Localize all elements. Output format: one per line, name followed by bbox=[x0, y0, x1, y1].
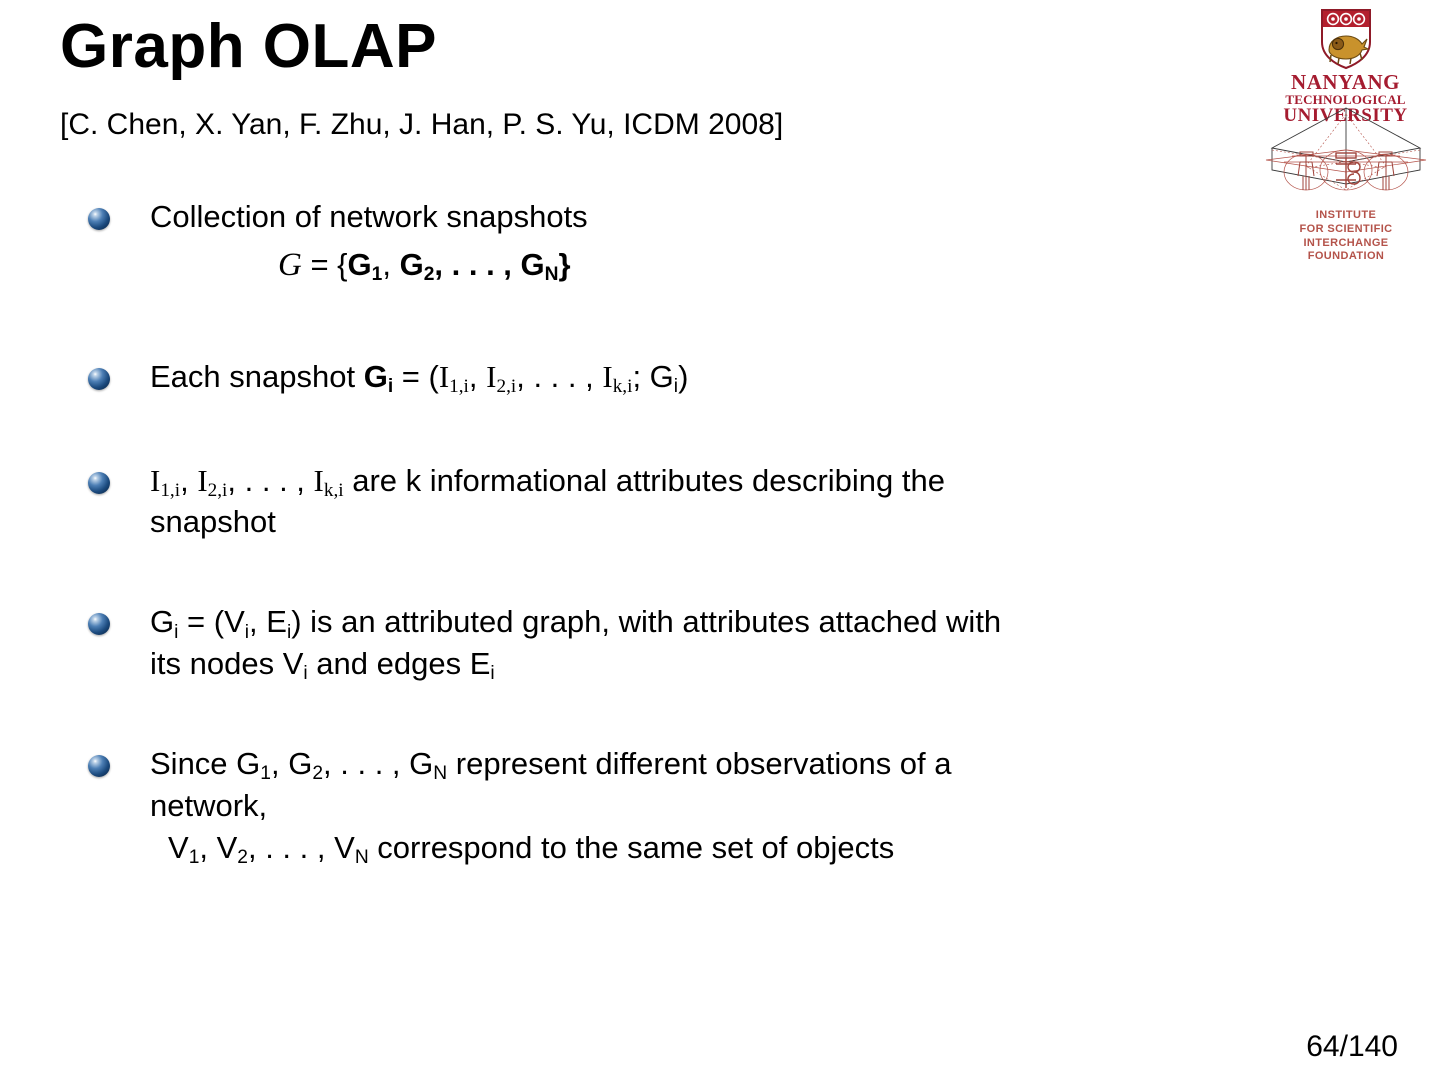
b2-semi: ; bbox=[632, 359, 649, 394]
b4-l2a: its nodes bbox=[150, 646, 283, 681]
list-item: I1,i, I2,i, . . . , Ik,i are k informati… bbox=[86, 460, 1266, 544]
isi-line-2: FOR SCIENTIFIC INTERCHANGE bbox=[1256, 223, 1436, 251]
b4-l2-e: E bbox=[470, 646, 491, 681]
b4-l2-e-sub: i bbox=[490, 663, 494, 684]
formula-close: } bbox=[559, 247, 571, 282]
list-item: Since G1, G2, . . . , GN represent diffe… bbox=[86, 743, 1266, 869]
b2-ik-sub: k,i bbox=[613, 376, 633, 397]
b5-g1-sub: 1 bbox=[260, 763, 271, 784]
b5-l3-sep1: , bbox=[199, 830, 216, 865]
list-item: Collection of network snapshots G = {G1,… bbox=[86, 196, 1266, 290]
b4-e-sub: i bbox=[287, 622, 291, 643]
b4-l2-v: V bbox=[283, 646, 304, 681]
b5-l3-vn: V bbox=[334, 830, 355, 865]
bullet-sphere-icon bbox=[88, 208, 110, 230]
b3-dots: , . . . , bbox=[227, 463, 313, 498]
b2-gi: G bbox=[650, 359, 674, 394]
b4-l2b: and edges bbox=[308, 646, 470, 681]
b3-sep1: , bbox=[180, 463, 197, 498]
bullet-5-text: Since G1, G2, . . . , GN represent diffe… bbox=[150, 746, 952, 781]
b3-i1-sub: 1,i bbox=[160, 480, 180, 501]
page-number: 64/140 bbox=[1306, 1030, 1398, 1064]
bullet-5-line3: V1, V2, . . . , VN correspond to the sam… bbox=[150, 827, 1266, 869]
spacer bbox=[86, 290, 1266, 356]
b5-dots: , . . . , bbox=[323, 746, 409, 781]
ntu-line-1: NANYANG bbox=[1258, 72, 1433, 93]
b5-gn-sub: N bbox=[433, 763, 447, 784]
b4-e: E bbox=[266, 604, 287, 639]
bullet-sphere-icon bbox=[88, 472, 110, 494]
formula-sep1: , bbox=[382, 247, 399, 282]
formula-g1-sub: 1 bbox=[372, 264, 383, 285]
b5-l3-v2-sub: 2 bbox=[237, 847, 248, 868]
b2-i1: I bbox=[439, 359, 449, 394]
b2-g: G bbox=[364, 359, 388, 394]
formula-gn-sub: N bbox=[545, 264, 559, 285]
citation-line: [C. Chen, X. Yan, F. Zhu, J. Han, P. S. … bbox=[60, 108, 783, 141]
b3-i1: I bbox=[150, 463, 160, 498]
b5-tail: represent different observations of a bbox=[447, 746, 951, 781]
bullet-2-text: Each snapshot Gi = (I1,i, I2,i, . . . , … bbox=[150, 359, 688, 394]
formula-g2: G bbox=[400, 247, 424, 282]
isi-line-3: FOUNDATION bbox=[1256, 250, 1436, 264]
isi-perspective-diagram-icon bbox=[1262, 104, 1430, 208]
b2-gi-sub: i bbox=[674, 376, 678, 397]
b5-l3-v2: V bbox=[217, 830, 238, 865]
b2-i2: I bbox=[486, 359, 496, 394]
b3-ik: I bbox=[314, 463, 324, 498]
b3-i2: I bbox=[197, 463, 207, 498]
formula-lhs: G bbox=[278, 247, 302, 283]
b5-l3-tail: correspond to the same set of objects bbox=[369, 830, 895, 865]
b3-tail: are k informational attributes describin… bbox=[344, 463, 945, 498]
b4-tail: ) is an attributed graph, with attribute… bbox=[291, 604, 1001, 639]
page-title: Graph OLAP bbox=[60, 14, 437, 79]
b2-mid: = ( bbox=[393, 359, 439, 394]
b2-g-sub: i bbox=[388, 376, 393, 397]
b5-l3-v1: V bbox=[168, 830, 189, 865]
b4-v-sub: i bbox=[245, 622, 249, 643]
bullet-1-text: Collection of network snapshots bbox=[150, 199, 588, 234]
b5-l3-dots: , . . . , bbox=[248, 830, 334, 865]
b3-ik-sub: k,i bbox=[324, 480, 344, 501]
formula-gn: G bbox=[521, 247, 545, 282]
bullet-sphere-icon bbox=[88, 613, 110, 635]
isi-line-1: INSTITUTE bbox=[1256, 209, 1436, 223]
b3-i2-sub: 2,i bbox=[208, 480, 228, 501]
formula-dots: , . . . , bbox=[434, 247, 520, 282]
formula-g2-sub: 2 bbox=[424, 264, 435, 285]
b2-i2-sub: 2,i bbox=[496, 376, 516, 397]
b4-v: V bbox=[224, 604, 245, 639]
bullet-sphere-icon bbox=[88, 755, 110, 777]
b5-gn: G bbox=[409, 746, 433, 781]
b5-l3-vn-sub: N bbox=[355, 847, 369, 868]
b5-g2: G bbox=[288, 746, 312, 781]
b5-g1: G bbox=[236, 746, 260, 781]
isi-wordmark: INSTITUTE FOR SCIENTIFIC INTERCHANGE FOU… bbox=[1256, 209, 1436, 264]
spacer bbox=[86, 543, 1266, 601]
bullet-sphere-icon bbox=[88, 368, 110, 390]
spacer bbox=[86, 398, 1266, 460]
bullet-list: Collection of network snapshots G = {G1,… bbox=[86, 196, 1266, 868]
b2-i1-sub: 1,i bbox=[449, 376, 469, 397]
b4-l2-v-sub: i bbox=[303, 663, 307, 684]
b2-prefix: Each snapshot bbox=[150, 359, 364, 394]
b4-g: G bbox=[150, 604, 174, 639]
slide-root: Graph OLAP [C. Chen, X. Yan, F. Zhu, J. … bbox=[0, 0, 1440, 1080]
bullet-4-line2: its nodes Vi and edges Ei bbox=[150, 643, 1266, 685]
b4-g-sub: i bbox=[174, 622, 178, 643]
b5-l3-v1-sub: 1 bbox=[189, 847, 200, 868]
bullet-1-formula: G = {G1, G2, . . . , GN} bbox=[150, 242, 1266, 290]
ntu-crest-icon bbox=[1319, 8, 1373, 70]
b4-sep: , bbox=[249, 604, 266, 639]
b5-prefix: Since bbox=[150, 746, 236, 781]
spacer bbox=[86, 685, 1266, 743]
bullet-3-line2: snapshot bbox=[150, 501, 1266, 543]
b2-ik: I bbox=[602, 359, 612, 394]
list-item: Gi = (Vi, Ei) is an attributed graph, wi… bbox=[86, 601, 1266, 685]
b5-sep1: , bbox=[271, 746, 288, 781]
b4-eq: = ( bbox=[178, 604, 224, 639]
bullet-5-line2: network, bbox=[150, 785, 1266, 827]
b2-dots: , . . . , bbox=[516, 359, 602, 394]
b2-close: ) bbox=[678, 359, 688, 394]
list-item: Each snapshot Gi = (I1,i, I2,i, . . . , … bbox=[86, 356, 1266, 398]
bullet-4-text: Gi = (Vi, Ei) is an attributed graph, wi… bbox=[150, 604, 1001, 639]
formula-eq: = { bbox=[302, 247, 348, 282]
isi-foundation-logo: INSTITUTE FOR SCIENTIFIC INTERCHANGE FOU… bbox=[1256, 104, 1436, 264]
bullet-3-text: I1,i, I2,i, . . . , Ik,i are k informati… bbox=[150, 463, 945, 498]
formula-g1: G bbox=[348, 247, 372, 282]
b2-sep1: , bbox=[469, 359, 486, 394]
b5-g2-sub: 2 bbox=[312, 763, 323, 784]
